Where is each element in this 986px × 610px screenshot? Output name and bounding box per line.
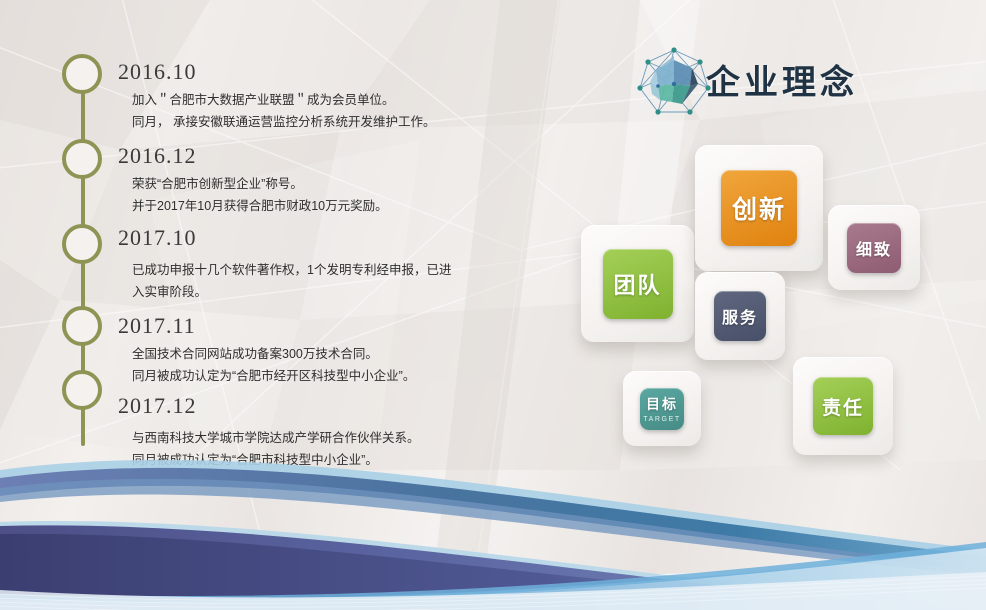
value-card-label: 创新 xyxy=(732,190,786,226)
value-card-label: 细致 xyxy=(856,236,892,260)
timeline-entry-2016-12: 2016.12 荣获“合肥市创新型企业”称号。 并于2017年10月获得合肥市财… xyxy=(118,144,538,218)
value-card-label: 目标 xyxy=(646,394,678,414)
timeline-marker-4 xyxy=(62,370,102,410)
value-card-label: 服务 xyxy=(722,304,758,328)
timeline-detail-line: 并于2017年10月获得合肥市财政10万元奖励。 xyxy=(132,196,538,218)
value-tile-target: 目标 TARGET xyxy=(640,388,684,430)
timeline-detail-lines: 荣获“合肥市创新型企业”称号。 并于2017年10月获得合肥市财政10万元奖励。 xyxy=(132,174,538,218)
value-tile-team: 团队 xyxy=(603,249,673,319)
timeline-rail xyxy=(62,54,104,446)
timeline-detail-lines: 已成功申报十几个软件著作权，1个发明专利经申报，已进 入实审阶段。 xyxy=(132,260,538,304)
timeline-entry-2017-10: 2017.10 已成功申报十几个软件著作权，1个发明专利经申报，已进 入实审阶段… xyxy=(118,226,538,304)
timeline-date: 2016.12 xyxy=(118,144,538,168)
value-card-innovation[interactable]: 创新 xyxy=(695,145,823,271)
timeline-entry-2017-11: 2017.11 全国技术合同网站成功备案300万技术合同。 同月被成功认定为“合… xyxy=(118,314,538,388)
value-card-meticulousness[interactable]: 细致 xyxy=(828,205,920,290)
value-card-service[interactable]: 服务 xyxy=(695,272,785,360)
decorative-wave-band xyxy=(0,430,986,610)
timeline-marker-3 xyxy=(62,306,102,346)
value-card-sublabel: TARGET xyxy=(643,416,680,423)
value-card-team[interactable]: 团队 xyxy=(581,225,694,342)
timeline-date: 2017.11 xyxy=(118,314,538,338)
timeline-detail-lines: 加入＂合肥市大数据产业联盟＂成为会员单位。 同月， 承接安徽联通运营监控分析系统… xyxy=(132,90,538,134)
page-title: 企业理念 xyxy=(706,55,858,104)
timeline-marker-1 xyxy=(62,139,102,179)
value-card-label: 责任 xyxy=(822,393,864,420)
timeline-detail-line: 同月被成功认定为“合肥市经开区科技型中小企业”。 xyxy=(132,366,538,388)
value-tile-innovation: 创新 xyxy=(721,170,797,246)
timeline-marker-2 xyxy=(62,224,102,264)
timeline-date: 2017.10 xyxy=(118,226,538,250)
timeline-detail-line: 同月， 承接安徽联通运营监控分析系统开发维护工作。 xyxy=(132,112,538,134)
timeline-detail-line: 全国技术合同网站成功备案300万技术合同。 xyxy=(132,344,538,366)
value-tile-responsibility: 责任 xyxy=(813,377,873,435)
timeline-detail-line: 入实审阶段。 xyxy=(132,282,538,304)
timeline-detail-line: 荣获“合肥市创新型企业”称号。 xyxy=(132,174,538,196)
timeline-detail-line: 已成功申报十几个软件著作权，1个发明专利经申报，已进 xyxy=(132,260,538,282)
timeline-date: 2016.10 xyxy=(118,60,538,84)
timeline-detail-lines: 全国技术合同网站成功备案300万技术合同。 同月被成功认定为“合肥市经开区科技型… xyxy=(132,344,538,388)
timeline-entry-list: 2016.10 加入＂合肥市大数据产业联盟＂成为会员单位。 同月， 承接安徽联通… xyxy=(118,60,538,472)
timeline-detail-line: 加入＂合肥市大数据产业联盟＂成为会员单位。 xyxy=(132,90,538,112)
slide-canvas: 2016.10 加入＂合肥市大数据产业联盟＂成为会员单位。 同月， 承接安徽联通… xyxy=(0,0,986,610)
timeline-entry-2016-10: 2016.10 加入＂合肥市大数据产业联盟＂成为会员单位。 同月， 承接安徽联通… xyxy=(118,60,538,134)
value-tile-service: 服务 xyxy=(714,291,766,341)
timeline-marker-0 xyxy=(62,54,102,94)
value-card-label: 团队 xyxy=(613,268,661,300)
timeline-date: 2017.12 xyxy=(118,394,538,418)
value-tile-meticulousness: 细致 xyxy=(847,223,901,273)
